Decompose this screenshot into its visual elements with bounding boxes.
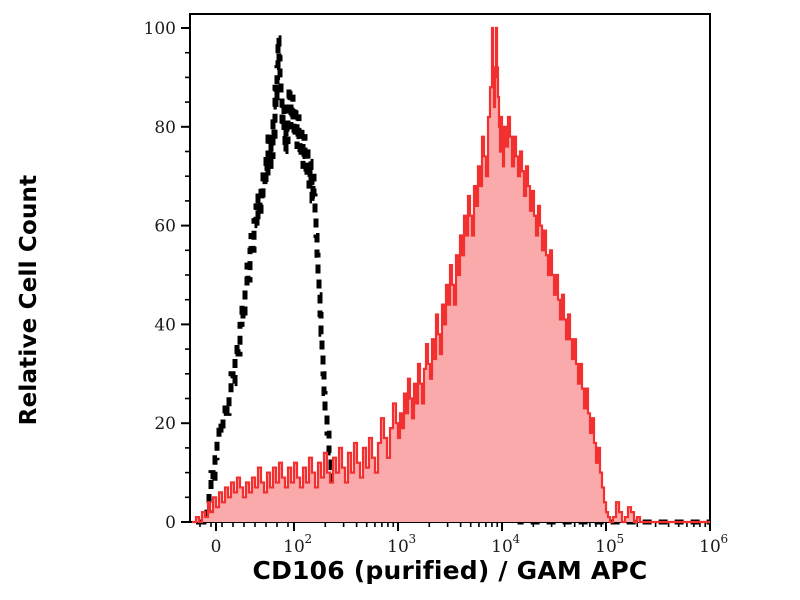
x-axis-label: CD106 (purified) / GAM APC [190,556,710,585]
x-tick-label: 10 [699,537,721,557]
x-tick-exponent: 4 [513,532,521,546]
x-tick-exponent: 6 [721,532,729,546]
x-tick-exponent: 3 [409,532,417,546]
y-tick-label: 80 [154,118,176,138]
x-tick-label: 10 [595,537,617,557]
x-tick-label: 10 [283,537,305,557]
x-tick-exponent: 5 [617,532,625,546]
y-tick-label: 60 [154,217,176,237]
x-tick-label: 10 [491,537,513,557]
flow-cytometry-figure: Relative Cell Count 02040608010001021031… [0,0,800,600]
y-tick-label: 20 [154,414,176,434]
x-tick-exponent: 2 [305,532,313,546]
y-tick-label: 0 [165,513,176,533]
histogram-plot: 0204060801000102103104105106 [0,0,800,600]
y-tick-label: 40 [154,315,176,335]
x-tick-label: 10 [387,537,409,557]
y-tick-label: 100 [144,19,176,39]
x-tick-label: 0 [211,537,222,557]
